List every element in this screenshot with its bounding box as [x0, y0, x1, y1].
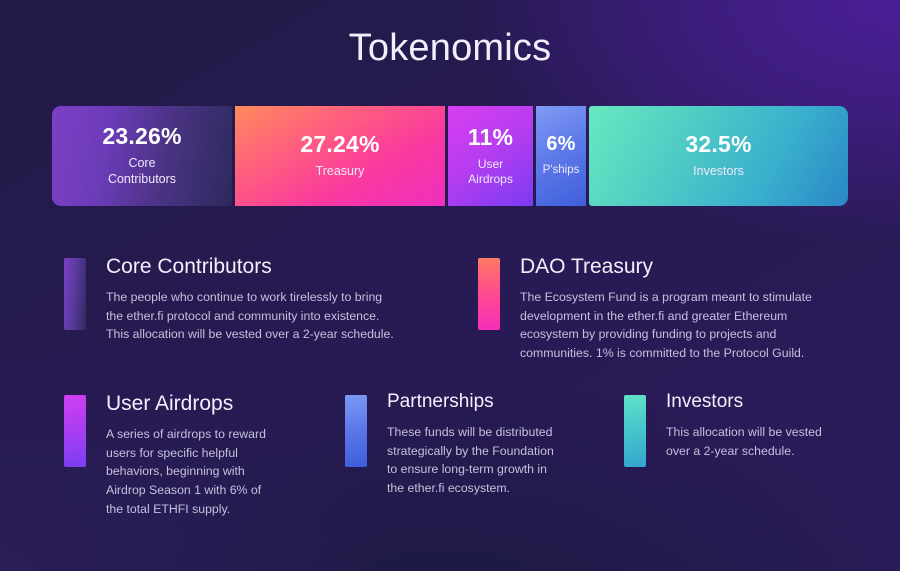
- detail-investors: Investors This allocation will be vested…: [624, 392, 846, 467]
- detail-description: A series of airdrops to reward users for…: [106, 425, 278, 518]
- bar-segment-investors[interactable]: 32.5% Investors: [589, 106, 848, 206]
- page-title: Tokenomics: [0, 27, 900, 70]
- detail-body: Investors This allocation will be vested…: [646, 392, 846, 460]
- bar-segment-partnerships[interactable]: 6% P'ships: [536, 106, 586, 206]
- bar-segment-percent: 32.5%: [685, 132, 751, 156]
- tokenomics-page: Tokenomics 23.26% Core Contributors 27.2…: [0, 0, 900, 571]
- detail-user-airdrops: User Airdrops A series of airdrops to re…: [64, 392, 278, 519]
- bar-segment-label: User Airdrops: [468, 157, 513, 187]
- detail-title: DAO Treasury: [520, 255, 840, 278]
- detail-description: These funds will be distributed strategi…: [387, 423, 567, 498]
- detail-description: The people who continue to work tireless…: [106, 288, 396, 344]
- detail-partnerships: Partnerships These funds will be distrib…: [345, 392, 567, 498]
- color-swatch-user-airdrops: [64, 395, 86, 467]
- bar-segment-percent: 23.26%: [102, 124, 181, 148]
- detail-dao-treasury: DAO Treasury The Ecosystem Fund is a pro…: [478, 255, 840, 363]
- bar-segment-percent: 6%: [546, 134, 575, 155]
- bar-segment-percent: 27.24%: [300, 132, 379, 156]
- color-swatch-core-contributors: [64, 258, 86, 330]
- bar-segment-label: Investors: [693, 164, 744, 180]
- detail-body: User Airdrops A series of airdrops to re…: [86, 392, 278, 519]
- bar-segment-core-contributors[interactable]: 23.26% Core Contributors: [52, 106, 232, 206]
- detail-body: Partnerships These funds will be distrib…: [367, 392, 567, 498]
- bar-segment-label: Treasury: [316, 164, 365, 180]
- detail-description: This allocation will be vested over a 2-…: [666, 423, 846, 460]
- detail-body: DAO Treasury The Ecosystem Fund is a pro…: [500, 255, 840, 363]
- color-swatch-partnerships: [345, 395, 367, 467]
- detail-title: Partnerships: [387, 392, 567, 413]
- detail-core-contributors: Core Contributors The people who continu…: [64, 255, 396, 344]
- detail-title: Core Contributors: [106, 255, 396, 278]
- detail-description: The Ecosystem Fund is a program meant to…: [520, 288, 840, 363]
- bar-segment-treasury[interactable]: 27.24% Treasury: [235, 106, 445, 206]
- bar-segment-label: P'ships: [543, 163, 580, 177]
- detail-body: Core Contributors The people who continu…: [86, 255, 396, 344]
- bar-segment-user-airdrops[interactable]: 11% User Airdrops: [448, 106, 533, 206]
- bar-segment-percent: 11%: [468, 125, 513, 149]
- detail-title: Investors: [666, 392, 846, 413]
- bar-segment-label: Core Contributors: [108, 156, 176, 187]
- color-swatch-dao-treasury: [478, 258, 500, 330]
- detail-title: User Airdrops: [106, 392, 278, 415]
- color-swatch-investors: [624, 395, 646, 467]
- allocation-bar: 23.26% Core Contributors 27.24% Treasury…: [52, 106, 848, 206]
